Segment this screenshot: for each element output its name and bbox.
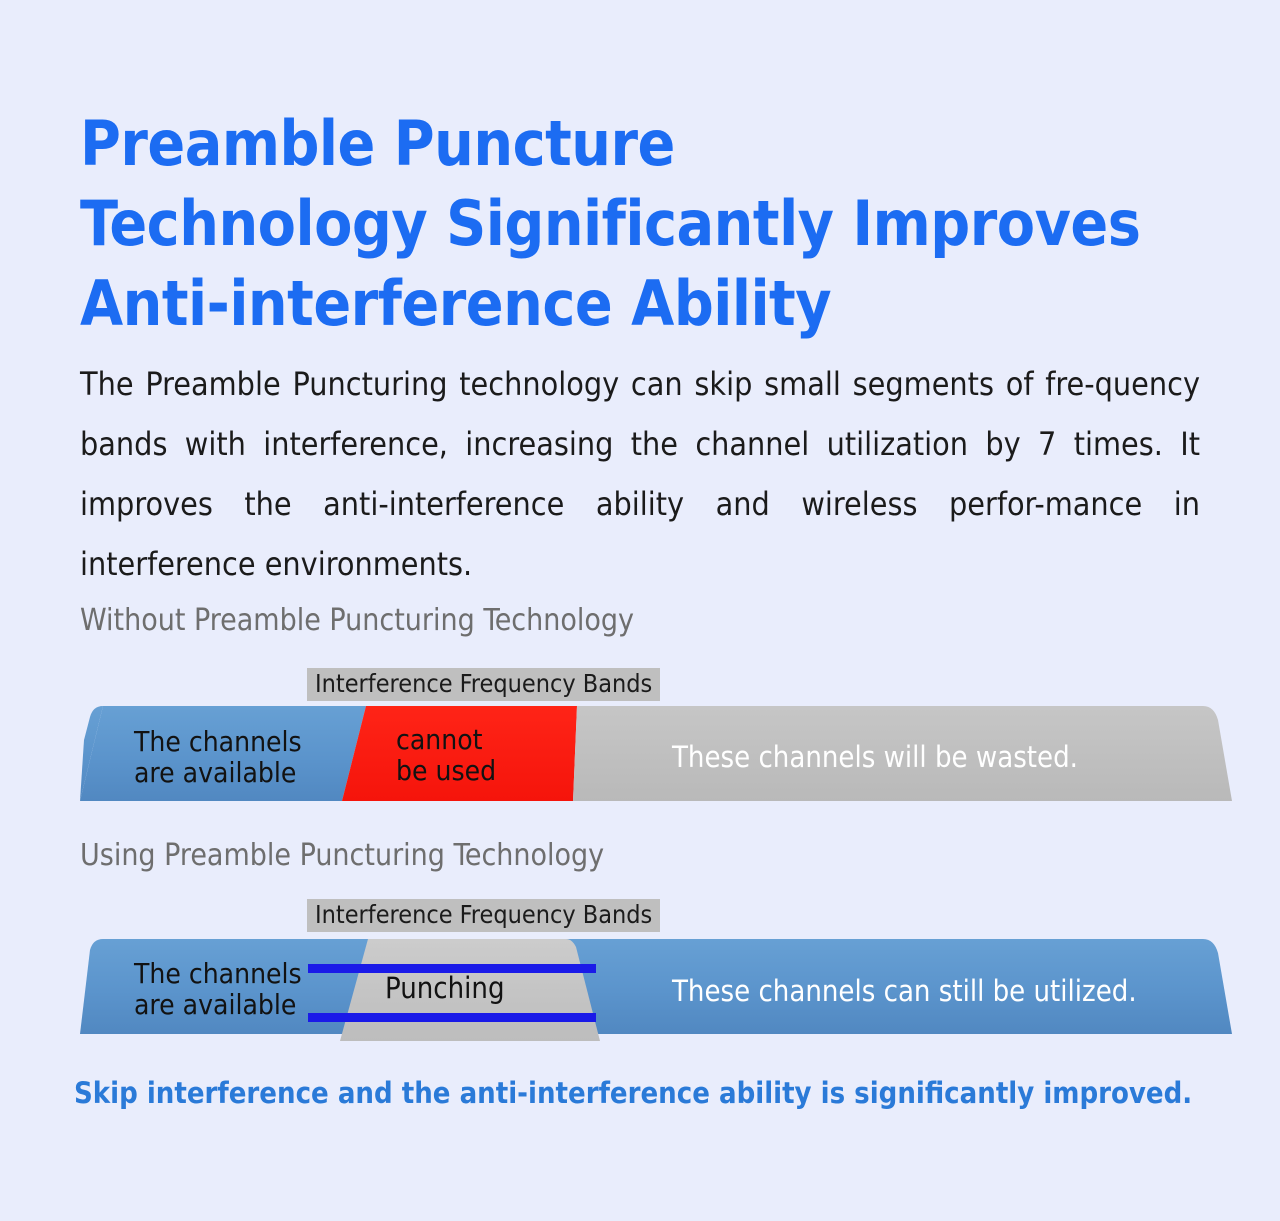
- bar-segment-available: [80, 706, 366, 801]
- interference-label-without: Interference Frequency Bands: [307, 668, 660, 701]
- bar-segment-punching: [340, 939, 600, 1041]
- punch-line-top: [308, 964, 596, 973]
- page-root: Preamble Puncture Technology Significant…: [0, 0, 1280, 1221]
- page-title: Preamble Puncture Technology Significant…: [80, 104, 1200, 344]
- section-caption-using: Using Preamble Puncturing Technology: [80, 838, 604, 873]
- bar-segment-blocked: [342, 706, 577, 801]
- punch-line-bottom: [308, 1013, 596, 1022]
- bandwidth-bar-without: [0, 700, 1280, 815]
- interference-label-using: Interference Frequency Bands: [307, 899, 660, 932]
- footer-note: Skip interference and the anti-interfere…: [74, 1076, 1192, 1110]
- bar-segment-available-using: [80, 939, 1232, 1034]
- bandwidth-bar-using: [0, 933, 1280, 1048]
- section-caption-without: Without Preamble Puncturing Technology: [80, 603, 634, 638]
- bar-segment-wasted: [573, 706, 1232, 801]
- intro-paragraph: The Preamble Puncturing technology can s…: [80, 354, 1200, 594]
